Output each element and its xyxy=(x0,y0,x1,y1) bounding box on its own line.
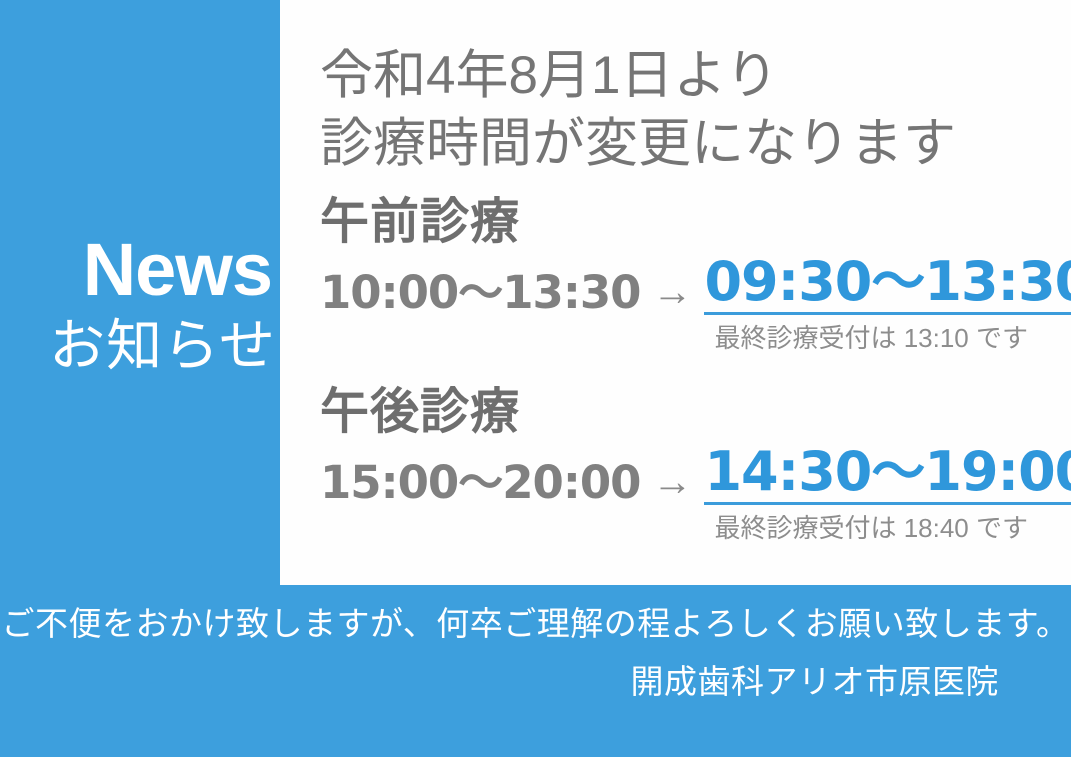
banner-news-title-ja: お知らせ xyxy=(0,318,276,374)
session-afternoon-times: 15:00〜20:00 → 14:30〜19:00 xyxy=(320,445,1040,505)
session-afternoon-old-time: 15:00〜20:00 xyxy=(320,460,640,505)
session-afternoon-note: 最終診療受付は 18:40 です xyxy=(320,515,1040,541)
session-morning-times: 10:00〜13:30 → 09:30〜13:30 xyxy=(320,255,1040,315)
session-morning-title: 午前診療 xyxy=(320,198,1040,247)
session-morning-new-time-underline: 09:30〜13:30 xyxy=(704,255,1071,315)
footer-band: ご不便をおかけ致しますが、何卒ご理解の程よろしくお願い致します。 開成歯科アリオ… xyxy=(0,585,1071,757)
session-morning-note: 最終診療受付は 13:10 です xyxy=(320,325,1040,351)
session-afternoon-new-time: 14:30〜19:00 xyxy=(704,440,1071,503)
session-morning-new-time: 09:30〜13:30 xyxy=(704,250,1071,313)
news-banner: News お知らせ xyxy=(0,0,280,585)
arrow-right-icon: → xyxy=(640,462,704,505)
footer-apology-text: ご不便をおかけ致しますが、何卒ご理解の程よろしくお願い致します。 xyxy=(0,607,1071,640)
footer-clinic-name: 開成歯科アリオ市原医院 xyxy=(631,665,1000,698)
page-title-line-2: 診療時間が変更になります xyxy=(320,110,956,178)
session-afternoon: 午後診療 15:00〜20:00 → 14:30〜19:00 最終診療受付は 1… xyxy=(320,388,1040,541)
session-afternoon-new-time-underline: 14:30〜19:00 xyxy=(704,445,1071,505)
banner-news-title: News xyxy=(0,233,272,307)
session-morning-old-time: 10:00〜13:30 xyxy=(320,270,640,315)
page-title-line-1: 令和4年8月1日より xyxy=(320,42,956,110)
session-morning: 午前診療 10:00〜13:30 → 09:30〜13:30 最終診療受付は 1… xyxy=(320,198,1040,351)
page-title: 令和4年8月1日より 診療時間が変更になります xyxy=(320,42,956,178)
arrow-right-icon: → xyxy=(640,272,704,315)
news-poster: News お知らせ 令和4年8月1日より 診療時間が変更になります 午前診療 1… xyxy=(0,0,1071,757)
content-panel: 令和4年8月1日より 診療時間が変更になります 午前診療 10:00〜13:30… xyxy=(280,0,1071,585)
session-afternoon-title: 午後診療 xyxy=(320,388,1040,437)
